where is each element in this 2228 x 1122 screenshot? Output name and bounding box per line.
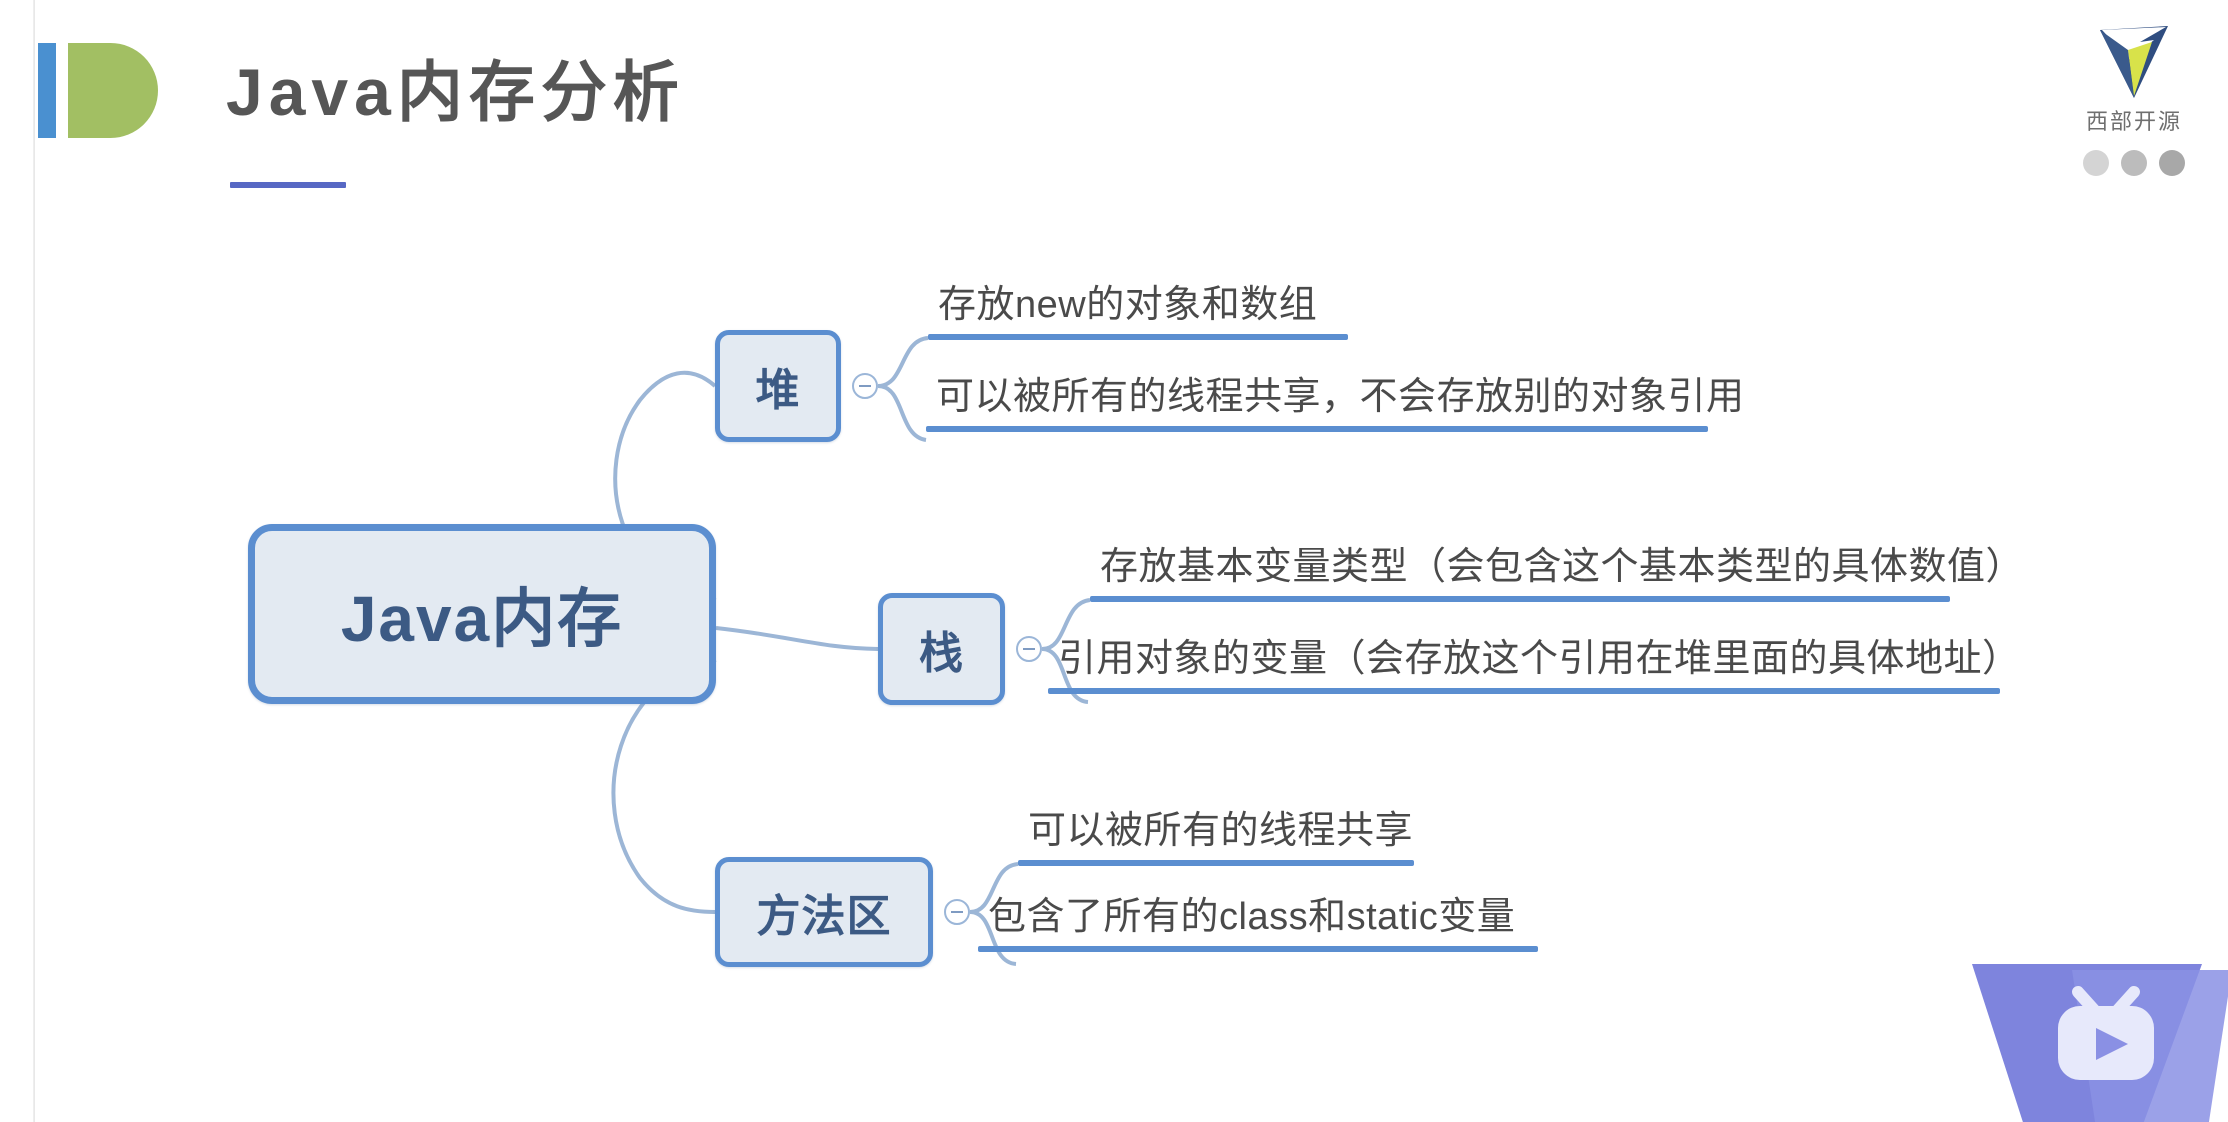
mindmap-leaf-rule [928, 334, 1348, 340]
mindmap-leaf-text: 引用对象的变量（会存放这个引用在堆里面的具体地址） [1048, 640, 2000, 688]
mindmap-leaf-rule [1048, 688, 2000, 694]
mindmap-leaf-text: 包含了所有的class和static变量 [978, 898, 1538, 946]
collapse-minus-icon[interactable] [944, 899, 970, 925]
mindmap-root-node[interactable]: Java内存 [248, 524, 716, 704]
mindmap-leaf[interactable]: 引用对象的变量（会存放这个引用在堆里面的具体地址） [1048, 640, 2000, 694]
mindmap: Java内存 堆 存放new的对象和数组 可以被所有的线程共享，不会存放别的对象… [0, 0, 2228, 1122]
tv-play-button-icon [2048, 984, 2164, 1084]
video-watermark [1964, 956, 2228, 1122]
slide-canvas: Java内存分析 西部开源 [0, 0, 2228, 1122]
mindmap-root-label: Java内存 [341, 568, 623, 660]
mindmap-leaf-rule [978, 946, 1538, 952]
mindmap-branch-method-area[interactable]: 方法区 [715, 857, 933, 967]
mindmap-leaf[interactable]: 可以被所有的线程共享 [1018, 812, 1414, 866]
mindmap-leaf[interactable]: 可以被所有的线程共享，不会存放别的对象引用 [926, 378, 1708, 432]
mindmap-leaf-rule [926, 426, 1708, 432]
collapse-minus-icon[interactable] [852, 373, 878, 399]
collapse-minus-icon[interactable] [1016, 636, 1042, 662]
mindmap-branch-heap-label: 堆 [756, 354, 801, 418]
mindmap-leaf-text: 存放基本变量类型（会包含这个基本类型的具体数值） [1090, 548, 1950, 596]
mindmap-branch-method-area-label: 方法区 [757, 880, 892, 944]
mindmap-leaf-text: 存放new的对象和数组 [928, 286, 1348, 334]
mindmap-branch-heap[interactable]: 堆 [715, 330, 841, 442]
mindmap-leaf-rule [1090, 596, 1950, 602]
mindmap-branch-stack-label: 栈 [919, 617, 964, 681]
mindmap-leaf[interactable]: 存放基本变量类型（会包含这个基本类型的具体数值） [1090, 548, 1950, 602]
mindmap-leaf[interactable]: 包含了所有的class和static变量 [978, 898, 1538, 952]
mindmap-leaf-text: 可以被所有的线程共享 [1018, 812, 1414, 860]
mindmap-branch-stack[interactable]: 栈 [878, 593, 1005, 705]
mindmap-leaf-text: 可以被所有的线程共享，不会存放别的对象引用 [926, 378, 1708, 426]
mindmap-leaf-rule [1018, 860, 1414, 866]
mindmap-leaf[interactable]: 存放new的对象和数组 [928, 286, 1348, 340]
